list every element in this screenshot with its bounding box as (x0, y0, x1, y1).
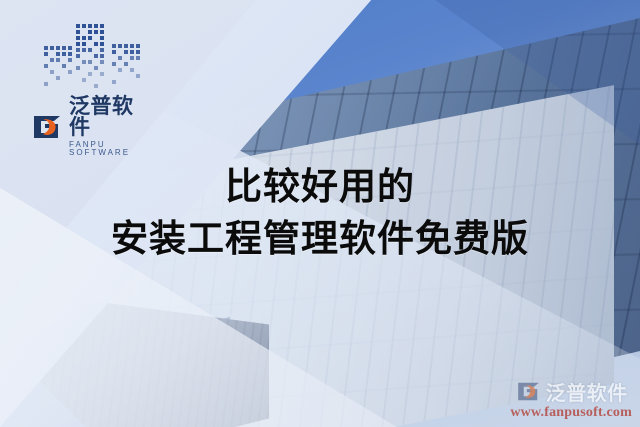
brand-logo-lockup: 泛普软件 FANPU SOFTWARE (30, 96, 150, 157)
pixel-city-skyline-icon (42, 22, 146, 94)
fanpu-logo-icon (30, 110, 64, 144)
banner-canvas: 泛普软件 FANPU SOFTWARE 比较好用的 安装工程管理软件免费版 泛普… (0, 0, 640, 427)
headline: 比较好用的 安装工程管理软件免费版 (0, 163, 640, 263)
headline-line-1: 比较好用的 (0, 163, 640, 211)
brand-name-cn: 泛普软件 (69, 96, 150, 138)
headline-line-2: 安装工程管理软件免费版 (0, 215, 640, 263)
brand-logo-text: 泛普软件 FANPU SOFTWARE (69, 96, 150, 157)
watermark-url: www.fanpusoft.com (510, 405, 632, 421)
brand-name-en: FANPU SOFTWARE (69, 141, 150, 157)
fanpu-logo-watermark-icon (515, 378, 542, 405)
watermark-row: 泛普软件 (515, 377, 628, 406)
watermark: 泛普软件 www.fanpusoft.com (510, 377, 632, 421)
brand-logo-block: 泛普软件 FANPU SOFTWARE (30, 22, 150, 157)
watermark-name: 泛普软件 (546, 377, 628, 406)
